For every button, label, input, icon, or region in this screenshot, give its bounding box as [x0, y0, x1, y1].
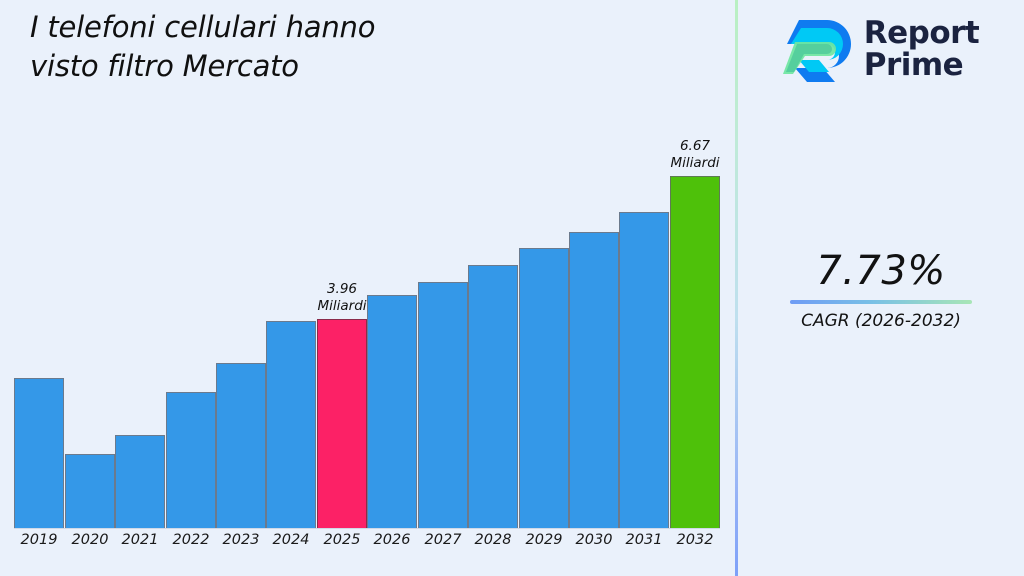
bar-2031	[619, 212, 669, 528]
bar-series: 3.96 Miliardi6.67 Miliardi	[14, 0, 720, 528]
cagr-divider-rule	[790, 300, 972, 304]
chart-panel: I telefoni cellulari hanno visto filtro …	[0, 0, 735, 576]
bar-value-label-2025: 3.96 Miliardi	[317, 281, 366, 315]
brand-logo: Report Prime	[738, 12, 1024, 88]
cagr-caption: CAGR (2026-2032)	[738, 311, 1024, 331]
bar-2028	[468, 265, 518, 528]
bar-2022	[166, 392, 216, 528]
bar-slot	[14, 0, 64, 528]
bar-slot	[418, 0, 468, 528]
cagr-value: 7.73%	[738, 248, 1024, 294]
x-axis: 2019202020212022202320242025202620272028…	[14, 532, 720, 562]
bar-slot	[468, 0, 518, 528]
cagr-block: 7.73% CAGR (2026-2032)	[738, 248, 1024, 331]
bar-2032	[670, 176, 720, 528]
bar-2023	[216, 363, 266, 528]
bar-2027	[418, 282, 468, 528]
x-tick-2021: 2021	[115, 532, 165, 548]
x-tick-2020: 2020	[65, 532, 115, 548]
bar-2020	[65, 454, 115, 528]
bar-slot	[115, 0, 165, 528]
bar-slot	[166, 0, 216, 528]
x-tick-2027: 2027	[418, 532, 468, 548]
bar-2030	[569, 232, 619, 528]
x-tick-2022: 2022	[166, 532, 216, 548]
bar-2019	[14, 378, 64, 528]
x-tick-2024: 2024	[266, 532, 316, 548]
plot-area: 3.96 Miliardi6.67 Miliardi 2019202020212…	[0, 0, 735, 576]
brand-name-line2: Prime	[864, 47, 963, 83]
bar-slot	[216, 0, 266, 528]
x-tick-2023: 2023	[216, 532, 266, 548]
bar-2026	[367, 295, 417, 528]
bar-slot	[266, 0, 316, 528]
x-tick-2029: 2029	[519, 532, 569, 548]
x-tick-2032: 2032	[670, 532, 720, 548]
infographic-root: I telefoni cellulari hanno visto filtro …	[0, 0, 1024, 576]
x-tick-2028: 2028	[468, 532, 518, 548]
side-panel: Report Prime 7.73% CAGR (2026-2032)	[738, 0, 1024, 576]
brand-name-line1: Report	[864, 15, 980, 51]
bar-slot: 3.96 Miliardi	[317, 0, 367, 528]
x-tick-2019: 2019	[14, 532, 64, 548]
x-tick-2025: 2025	[317, 532, 367, 548]
bar-2025	[317, 319, 367, 528]
x-tick-2031: 2031	[619, 532, 669, 548]
report-prime-logo-icon	[783, 12, 855, 88]
bar-2029	[519, 248, 569, 528]
bar-slot	[65, 0, 115, 528]
bar-value-label-2032: 6.67 Miliardi	[670, 138, 719, 172]
bar-2021	[115, 435, 165, 528]
bar-slot	[367, 0, 417, 528]
bar-slot	[619, 0, 669, 528]
x-tick-2030: 2030	[569, 532, 619, 548]
bar-slot	[569, 0, 619, 528]
brand-name: Report Prime	[864, 18, 980, 81]
bar-slot: 6.67 Miliardi	[670, 0, 720, 528]
bar-2024	[266, 321, 316, 528]
bar-slot	[519, 0, 569, 528]
axis-baseline	[14, 528, 720, 529]
x-tick-2026: 2026	[367, 532, 417, 548]
